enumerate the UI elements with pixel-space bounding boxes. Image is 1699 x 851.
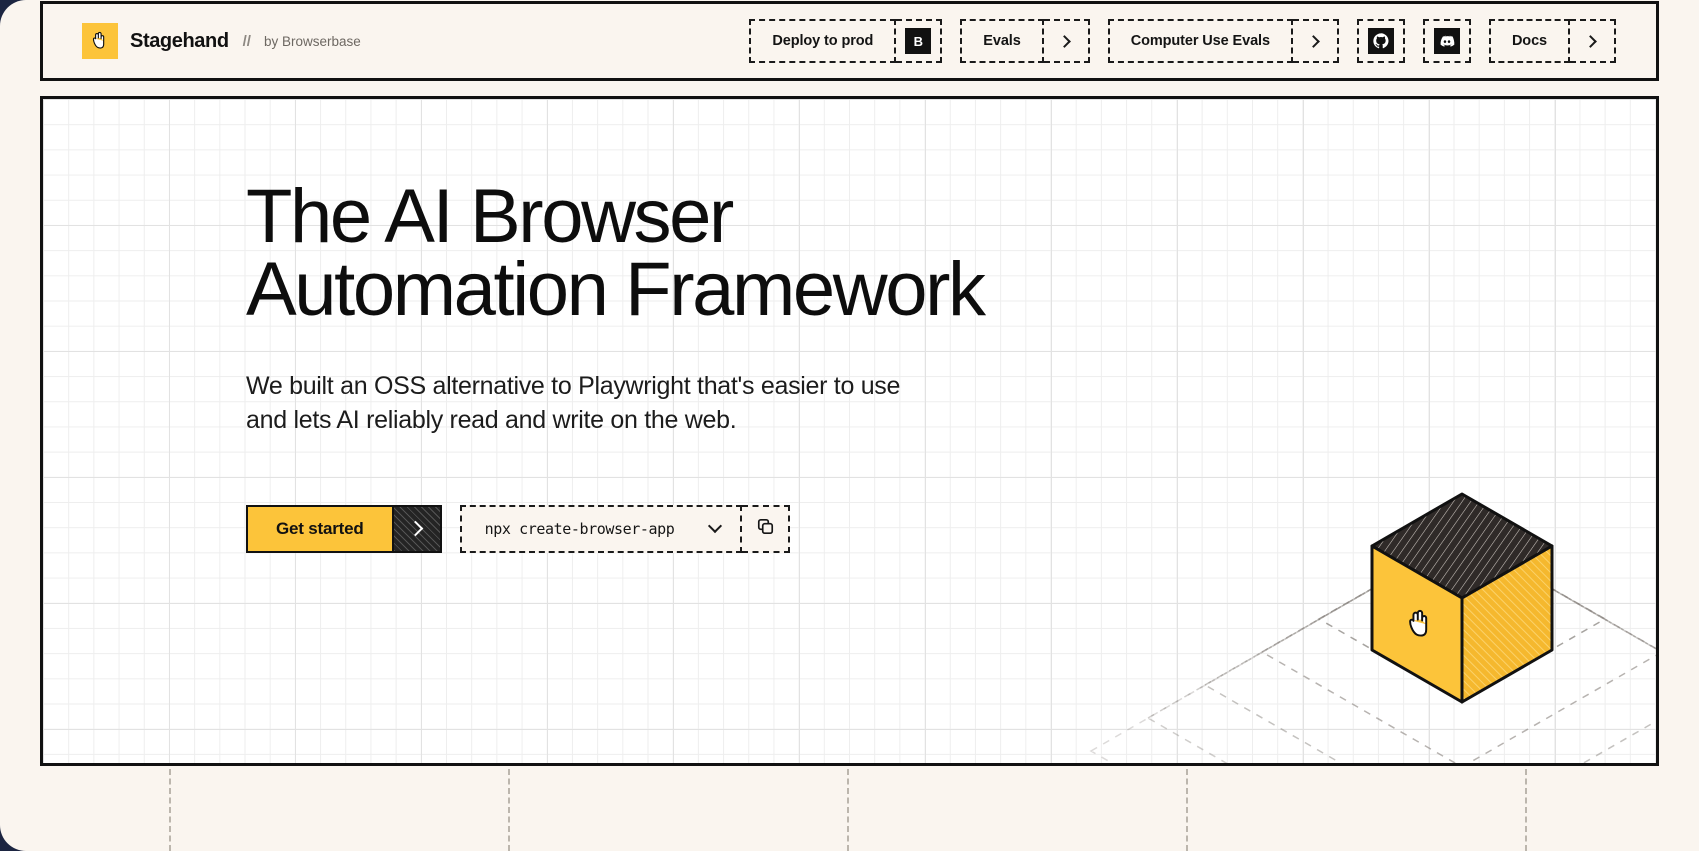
guide-rule	[508, 769, 510, 851]
chevron-down-icon[interactable]	[708, 519, 722, 533]
chevron-right-glyph	[1058, 35, 1071, 48]
chevron-right-glyph	[1584, 35, 1597, 48]
isometric-cube	[906, 319, 1659, 766]
hero-subtitle: We built an OSS alternative to Playwrigh…	[246, 369, 984, 438]
nav-item-docs[interactable]: Docs	[1489, 19, 1616, 63]
rock-hand-icon	[82, 23, 118, 59]
brand-byline: by Browserbase	[264, 34, 361, 49]
chevron-right-icon[interactable]	[1570, 19, 1616, 63]
copy-command-button[interactable]	[742, 505, 790, 553]
main-navigation: Deploy to prod B Evals Computer Use Eval…	[749, 19, 1616, 63]
nav-label-computer-use-evals[interactable]: Computer Use Evals	[1108, 19, 1293, 63]
site-header: Stagehand // by Browserbase Deploy to pr…	[40, 1, 1659, 81]
hero-section: The AI Browser Automation Framework We b…	[40, 96, 1659, 766]
get-started-label: Get started	[248, 507, 392, 551]
hero-cta-row: Get started npx create-browser-app	[246, 505, 984, 553]
page-title: The AI Browser Automation Framework	[246, 181, 984, 327]
nav-item-deploy-to-prod[interactable]: Deploy to prod B	[749, 19, 942, 63]
nav-item-github[interactable]	[1357, 19, 1405, 63]
hero-copy: The AI Browser Automation Framework We b…	[246, 181, 984, 553]
brand-name: Stagehand	[130, 30, 229, 53]
install-command-group: npx create-browser-app	[460, 505, 791, 553]
chevron-right-glyph	[1307, 35, 1320, 48]
nav-item-evals[interactable]: Evals	[960, 19, 1089, 63]
nav-label-text: Computer Use Evals	[1131, 33, 1270, 49]
chevron-right-icon[interactable]	[1044, 19, 1090, 63]
discord-icon[interactable]	[1423, 19, 1471, 63]
install-command-value: npx create-browser-app	[485, 520, 675, 538]
guide-rule	[1186, 769, 1188, 851]
github-icon[interactable]	[1357, 19, 1405, 63]
nav-label-text: Deploy to prod	[772, 33, 873, 49]
nav-label-text: Evals	[983, 33, 1020, 49]
browserbase-logo-icon[interactable]: B	[896, 19, 942, 63]
guide-rule	[847, 769, 849, 851]
nav-item-computer-use-evals[interactable]: Computer Use Evals	[1108, 19, 1339, 63]
guide-rule	[169, 769, 171, 851]
get-started-button[interactable]: Get started	[246, 505, 442, 553]
window-edge-mask	[0, 0, 44, 851]
chevron-right-icon[interactable]	[392, 507, 440, 551]
install-command-select[interactable]: npx create-browser-app	[460, 505, 743, 553]
guide-rule	[1525, 769, 1527, 851]
nav-badge-text: B	[905, 28, 931, 54]
nav-item-discord[interactable]	[1423, 19, 1471, 63]
page-root: Stagehand // by Browserbase Deploy to pr…	[0, 0, 1699, 851]
copy-icon	[756, 517, 775, 541]
nav-label-docs[interactable]: Docs	[1489, 19, 1570, 63]
brand-separator: //	[243, 33, 251, 50]
nav-label-text: Docs	[1512, 33, 1547, 49]
nav-label-deploy-to-prod[interactable]: Deploy to prod	[749, 19, 896, 63]
chevron-right-glyph	[407, 521, 423, 537]
discord-glyph	[1434, 28, 1460, 54]
chevron-right-icon[interactable]	[1293, 19, 1339, 63]
github-glyph	[1368, 28, 1394, 54]
nav-label-evals[interactable]: Evals	[960, 19, 1043, 63]
brand-logo[interactable]: Stagehand // by Browserbase	[82, 23, 361, 59]
